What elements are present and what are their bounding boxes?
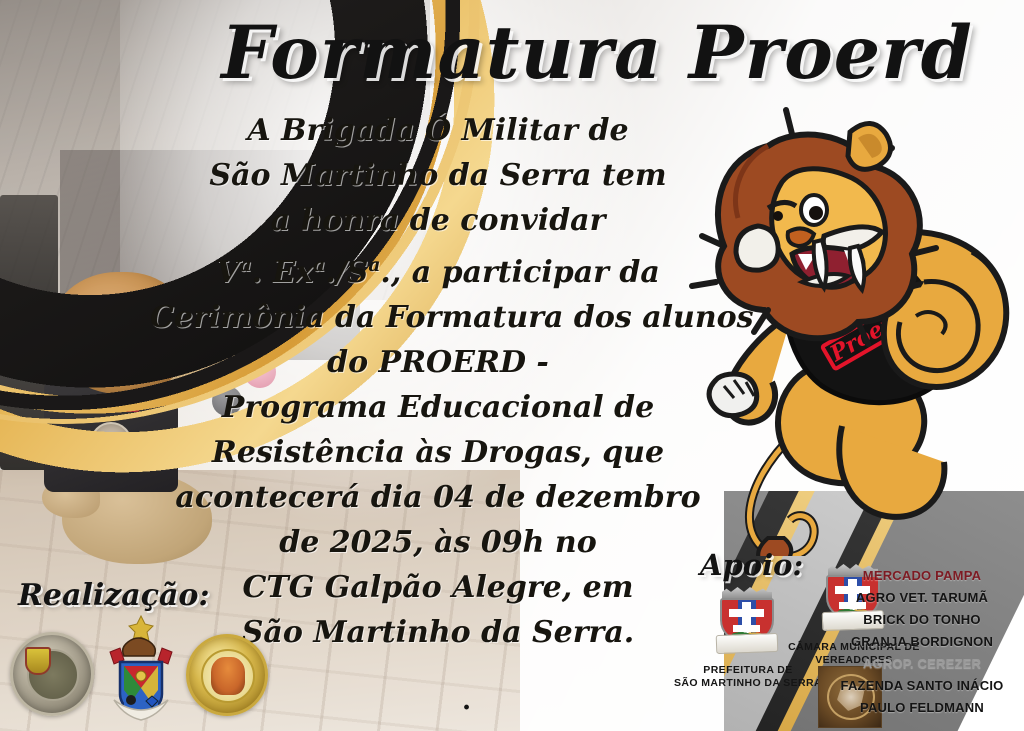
prefeitura-caption-line2: SÃO MARTINHO DA SERRA <box>674 677 822 689</box>
seal-shield <box>25 647 51 675</box>
brigada-militar-seal-logo <box>10 632 94 716</box>
prefeitura-crest-icon <box>716 586 778 662</box>
realizacao-label: Realização: <box>18 578 210 613</box>
sponsor-item: FAZENDA SANTO INÁCIO <box>828 675 1016 697</box>
crest-ribbon <box>716 633 779 654</box>
sponsor-item: PAULO FELDMANN <box>828 697 1016 719</box>
sponsor-item: AGRO VET. TARUMÃ <box>828 587 1016 609</box>
poster-canvas: Proerd <box>0 0 1024 731</box>
invitation-body: A Brigada Ó Militar de São Martinho da S… <box>150 108 726 655</box>
body-line: do PROERD - <box>150 340 726 385</box>
poster-title: Formatura Proerd <box>0 10 1024 96</box>
body-line: Va. Exa./Sa., a participar da <box>150 243 726 295</box>
seal-lion-figure <box>211 657 245 695</box>
apoio-label: Apoio: <box>700 548 803 582</box>
sponsor-item: AGROP. CEREZER <box>828 653 1016 675</box>
sponsor-list: MERCADO PAMPA AGRO VET. TARUMÃ BRICK DO … <box>828 565 1016 719</box>
rs-coat-of-arms-logo <box>98 612 184 722</box>
body-line: São Martinho da Serra tem <box>150 153 726 198</box>
prefeitura-caption: PREFEITURA DE SÃO MARTINHO DA SERRA <box>672 664 824 690</box>
body-line: Resistência às Drogas, que <box>150 430 726 475</box>
sponsor-item: MERCADO PAMPA <box>828 565 1016 587</box>
crest-cross-bar <box>729 609 764 617</box>
sponsor-item: GRANJA BORDIGNON <box>828 631 1016 653</box>
body-line: de 2025, às 09h no <box>150 520 726 565</box>
body-line: a honra de convidar <box>150 198 726 243</box>
trailing-period: . <box>462 686 471 716</box>
body-line: Cerimônia da Formatura dos alunos <box>150 295 726 340</box>
body-line: A Brigada Ó Militar de <box>150 108 726 153</box>
body-line: Programa Educacional de <box>150 385 726 430</box>
proerd-seal-logo <box>186 634 268 716</box>
sponsor-item: BRICK DO TONHO <box>828 609 1016 631</box>
body-line: CTG Galpão Alegre, em <box>150 565 726 610</box>
body-line: acontecerá dia 04 de dezembro <box>150 475 726 520</box>
